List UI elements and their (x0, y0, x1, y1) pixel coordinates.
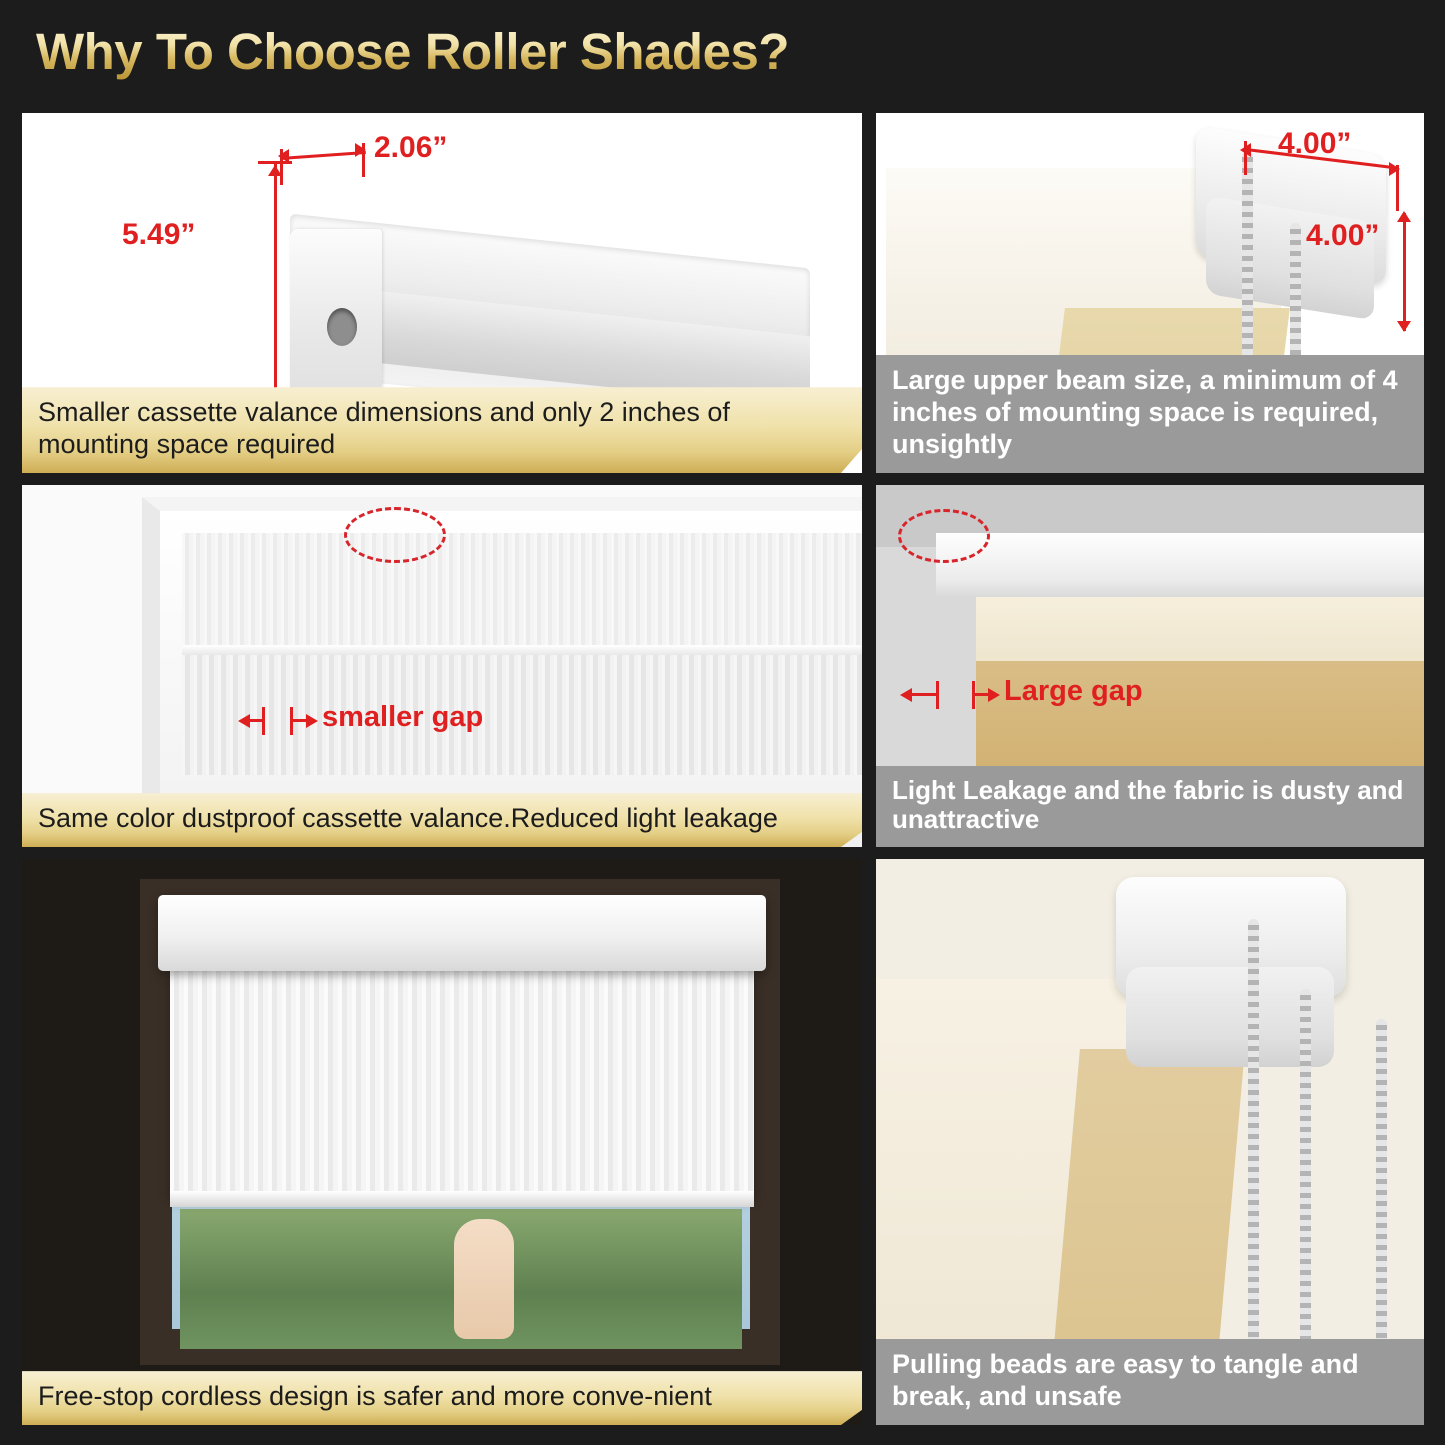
width-measure-line (280, 151, 366, 160)
infographic-page: Why To Choose Roller Shades? 2.06” (0, 0, 1445, 1445)
hand (454, 1219, 514, 1339)
height-dimension-label: 5.49” (122, 218, 195, 252)
page-title: Why To Choose Roller Shades? (36, 22, 789, 81)
panel-2: 4.00” 4.00” Large upper beam size, a min… (876, 113, 1424, 473)
beam-width-label: 4.00” (1278, 127, 1351, 161)
gap-arrow-left-line (910, 693, 936, 696)
shade-fabric (170, 969, 754, 1197)
panel-6-caption: Pulling beads are easy to tangle and bre… (876, 1339, 1424, 1425)
panel-6: Pulling beads are easy to tangle and bre… (876, 859, 1424, 1425)
panel-1-caption: Smaller cassette valance dimensions and … (22, 387, 862, 473)
panel-1: 2.06” 5.49” Smaller cassette valance dim… (22, 113, 862, 473)
panel-3: smaller gap Same color dustproof cassett… (22, 485, 862, 847)
gap-tick-left (936, 681, 939, 709)
roller-head-rail (936, 533, 1424, 599)
height-tick-top (258, 161, 292, 164)
panel-3-caption: Same color dustproof cassette valance.Re… (22, 793, 862, 847)
width-dimension-label: 2.06” (374, 131, 447, 165)
bead-chain (1248, 919, 1259, 1349)
gap-callout-label: Large gap (1004, 675, 1143, 708)
shade-bottom-rail (170, 1191, 754, 1207)
panel-5-image (22, 859, 862, 1425)
panel-grid: 2.06” 5.49” Smaller cassette valance dim… (22, 113, 1424, 1425)
panel-5: Free-stop cordless design is safer and m… (22, 859, 862, 1425)
panel-2-caption: Large upper beam size, a minimum of 4 in… (876, 355, 1424, 473)
cassette-valance (158, 895, 766, 971)
shade-fabric-lower (182, 655, 862, 775)
height-arrow-up-icon (268, 165, 282, 176)
panel-3-image: smaller gap (22, 485, 862, 847)
beam-depth-arrow-down-icon (1397, 321, 1411, 332)
gap-arrow-left-line (248, 719, 264, 722)
beam-width-arrow-left-icon (1240, 143, 1251, 157)
bead-chain (1376, 1019, 1387, 1349)
gap-callout-label: smaller gap (322, 701, 483, 734)
width-arrow-right-icon (355, 143, 366, 157)
roller-fabric-tan (1052, 1049, 1245, 1367)
roller-fabric-light (976, 597, 1424, 663)
gap-highlight-ellipse (344, 507, 446, 563)
panel-5-caption: Free-stop cordless design is safer and m… (22, 1371, 862, 1425)
shade-fabric-upper (182, 533, 862, 653)
panel-4-caption: Light Leakage and the fabric is dusty an… (876, 766, 1424, 847)
gap-arrow-right-line (292, 719, 308, 722)
beam-depth-arrow-up-icon (1397, 211, 1411, 222)
beam-depth-label: 4.00” (1306, 219, 1379, 253)
beam-width-arrow-right-icon (1389, 162, 1400, 176)
panel-4: Large gap Light Leakage and the fabric i… (876, 485, 1424, 847)
gap-arrow-right-line (975, 693, 991, 696)
bead-chain (1300, 989, 1311, 1349)
beam-depth-measure-line (1403, 213, 1406, 331)
valance-bracket-hole (327, 308, 357, 346)
gap-highlight-ellipse (898, 509, 990, 563)
